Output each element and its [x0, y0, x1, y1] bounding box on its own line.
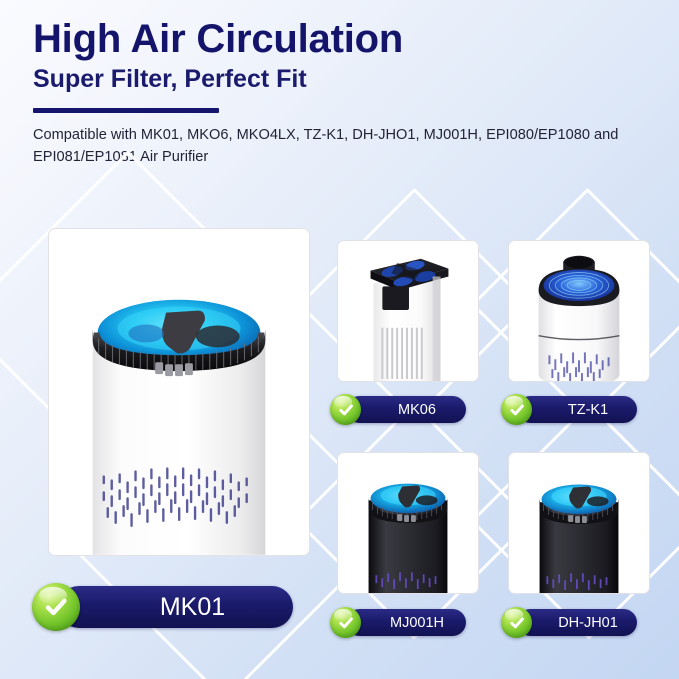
page-title: High Air Circulation	[33, 18, 653, 60]
check-badge-icon	[32, 583, 80, 631]
page-subtitle: Super Filter, Perfect Fit	[33, 66, 653, 94]
pill-label: MJ001H	[346, 609, 466, 636]
product-image-mk01	[48, 228, 310, 556]
product-image-mj001h	[337, 452, 479, 594]
air-purifier-black-cylinder-illustration	[509, 453, 649, 593]
pill-label: TZ-K1	[517, 396, 637, 423]
promo-poster: High Air Circulation Super Filter, Perfe…	[0, 0, 679, 679]
pill-label: DH-JH01	[517, 609, 637, 636]
air-purifier-white-round-illustration	[509, 241, 649, 381]
product-label-mj001h[interactable]: MJ001H	[330, 607, 480, 638]
product-label-mk06[interactable]: MK06	[330, 394, 480, 425]
pill-label: MK01	[58, 586, 293, 628]
check-badge-icon	[330, 607, 361, 638]
title-divider	[33, 108, 219, 113]
product-image-dhjh01	[508, 452, 650, 594]
check-badge-icon	[330, 394, 361, 425]
compatibility-text: Compatible with MK01, MKO6, MKO4LX, TZ-K…	[33, 124, 633, 168]
air-purifier-black-cylinder-illustration	[338, 453, 478, 593]
product-label-mk01[interactable]: MK01	[32, 583, 302, 631]
air-purifier-white-cylinder-illustration	[49, 229, 309, 555]
check-badge-icon	[501, 607, 532, 638]
product-label-dhjh01[interactable]: DH-JH01	[501, 607, 651, 638]
product-label-tzk1[interactable]: TZ-K1	[501, 394, 651, 425]
product-image-tzk1	[508, 240, 650, 382]
product-image-mk06	[337, 240, 479, 382]
header-block: High Air Circulation Super Filter, Perfe…	[33, 18, 653, 168]
pill-label: MK06	[346, 396, 466, 423]
check-badge-icon	[501, 394, 532, 425]
air-purifier-white-tower-illustration	[338, 241, 478, 381]
